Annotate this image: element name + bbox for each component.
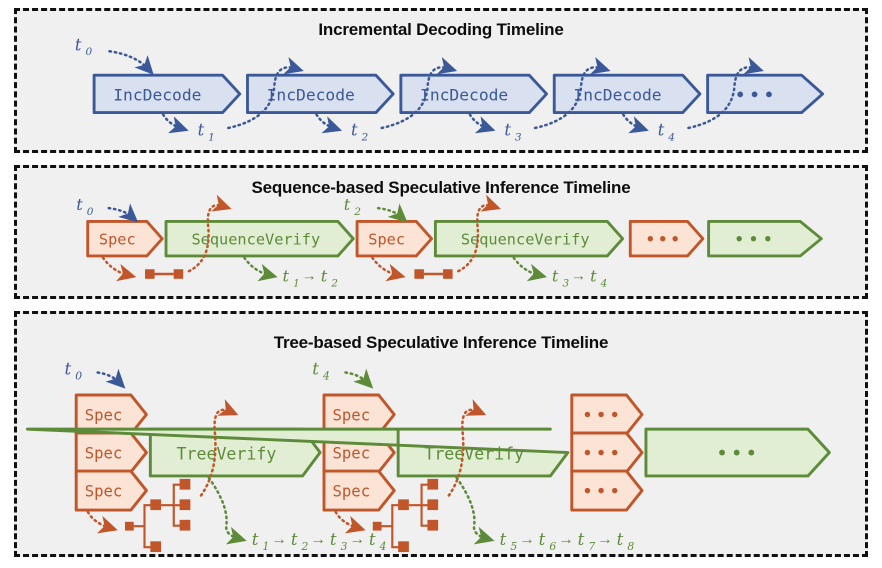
svg-text:→: →	[310, 531, 326, 548]
svg-text:2: 2	[361, 131, 369, 143]
incdecode-step-3-label: IncDecode	[420, 86, 508, 105]
svg-text:t: t	[539, 530, 546, 549]
panel-incremental-decoding: Incremental Decoding Timeline IncDecode	[14, 8, 868, 153]
svg-text:t: t	[75, 35, 82, 54]
label-t1: t 1	[198, 121, 215, 144]
svg-text:t: t	[198, 121, 205, 140]
panel-tree-speculative: Tree-based Speculative Inference Timelin…	[14, 311, 868, 557]
svg-text:2: 2	[353, 206, 361, 218]
svg-text:t: t	[369, 530, 376, 549]
sequenceverify-step-2: SequenceVerify	[435, 221, 622, 255]
arrow-treeverify2-out	[457, 478, 486, 538]
arrow-out-t4	[623, 115, 640, 128]
svg-text:4: 4	[667, 131, 675, 143]
arrow-out-t2	[317, 115, 334, 128]
svg-text:→: →	[571, 268, 586, 285]
svg-text:t: t	[351, 121, 358, 140]
arrow-spec2-tokens	[372, 258, 397, 275]
incdecode-step-ellipsis	[708, 75, 823, 112]
spec-stack-1: Spec Spec Spec	[76, 395, 146, 510]
svg-text:→: →	[349, 531, 365, 548]
svg-text:t: t	[312, 359, 319, 378]
svg-text:t: t	[617, 530, 624, 549]
label-t1-t2: t 1 → t 2	[283, 267, 339, 290]
arrow-t4-in-tree	[345, 373, 366, 383]
svg-text:3: 3	[515, 131, 522, 143]
incdecode-step-4-label: IncDecode	[573, 86, 661, 105]
arrow-out-t3	[470, 115, 487, 128]
svg-text:0: 0	[85, 46, 92, 58]
svg-text:0: 0	[87, 206, 94, 218]
svg-text:1: 1	[263, 540, 270, 553]
arrow-spec2-tree-tokens	[336, 512, 357, 528]
figure-canvas: Incremental Decoding Timeline IncDecode	[0, 0, 882, 568]
label-t1-t4-chain: t 1 → t 2 → t 3 → t 4	[252, 530, 387, 553]
incremental-decoding-diagram: IncDecode IncDecode IncDecode IncDecode	[17, 11, 871, 150]
label-t2: t 2	[351, 121, 369, 144]
svg-text:t: t	[330, 530, 337, 549]
svg-text:4: 4	[600, 277, 608, 289]
spec-step-ellipsis	[630, 221, 703, 255]
incdecode-step-2: IncDecode	[247, 75, 393, 112]
sequenceverify-step-ellipsis	[709, 221, 822, 255]
label-t0-seq: t 0	[76, 195, 94, 218]
arrow-verify1-out	[244, 258, 269, 275]
svg-text:3: 3	[341, 540, 348, 553]
sequenceverify-step-1: SequenceVerify	[166, 221, 353, 255]
svg-text:t: t	[291, 530, 298, 549]
label-t3: t 3	[504, 121, 522, 144]
svg-text:t: t	[344, 195, 351, 214]
incdecode-step-2-label: IncDecode	[267, 86, 355, 105]
svg-text:t: t	[76, 195, 83, 214]
svg-text:→: →	[519, 531, 535, 548]
svg-text:→: →	[302, 268, 317, 285]
incdecode-step-3: IncDecode	[401, 75, 547, 112]
spec-step-2-label: Spec	[368, 230, 405, 248]
svg-text:1: 1	[293, 277, 300, 289]
sequenceverify-step-1-label: SequenceVerify	[191, 230, 320, 248]
svg-text:t: t	[552, 267, 559, 286]
svg-text:t: t	[658, 121, 665, 140]
svg-text:t: t	[504, 121, 511, 140]
sequence-speculative-diagram: Spec SequenceVerify Spec SequenceVerify	[17, 168, 871, 296]
arrow-spec1-tree-tokens	[88, 512, 109, 528]
svg-text:t: t	[578, 530, 585, 549]
label-t5-t8-chain: t 5 → t 6 → t 7 → t 8	[500, 530, 635, 553]
svg-text:2: 2	[330, 277, 338, 289]
svg-text:→: →	[558, 531, 574, 548]
svg-text:5: 5	[510, 540, 517, 553]
arrow-verify2-out	[514, 258, 539, 275]
arrow-t2-in-seq	[378, 208, 401, 217]
label-t0: t 0	[75, 35, 93, 58]
incdecode-step-4: IncDecode	[554, 75, 700, 112]
spec-stack-1-item-3-label: Spec	[85, 482, 123, 500]
svg-text:2: 2	[301, 540, 309, 553]
svg-text:6: 6	[549, 540, 556, 553]
spec-stack-2-item-2-label: Spec	[333, 444, 371, 462]
spec-stack-1-item-2-label: Spec	[85, 444, 123, 462]
label-t4-tree: t 4	[312, 359, 330, 382]
svg-text:4: 4	[379, 540, 387, 553]
spec-stack-2: Spec Spec Spec	[324, 395, 394, 510]
arrow-out-t1	[163, 115, 180, 128]
svg-text:t: t	[283, 267, 290, 286]
spec-step-2: Spec	[357, 221, 432, 255]
treeverify-step-ellipsis	[646, 429, 829, 476]
incdecode-step-1: IncDecode	[94, 75, 240, 112]
svg-text:→: →	[271, 531, 287, 548]
treeverify-step-2-label: TreeVerify	[424, 444, 524, 463]
spec-step-1-label: Spec	[99, 230, 136, 248]
svg-text:→: →	[597, 531, 613, 548]
svg-text:3: 3	[562, 277, 569, 289]
token-sequence-1	[145, 269, 183, 279]
tree-speculative-diagram: Spec Spec Spec TreeVerify Spec Spec Spec	[17, 314, 871, 554]
arrow-t0-in	[109, 51, 147, 68]
token-sequence-2	[414, 269, 452, 279]
svg-text:0: 0	[75, 369, 82, 382]
arrow-spec1-tokens	[103, 258, 128, 275]
spec-stack-ellipsis	[572, 395, 642, 510]
svg-text:t: t	[500, 530, 507, 549]
svg-text:t: t	[590, 267, 597, 286]
panel-sequence-speculative: Sequence-based Speculative Inference Tim…	[14, 165, 868, 299]
svg-text:t: t	[321, 267, 328, 286]
svg-text:4: 4	[322, 369, 330, 382]
sequenceverify-step-2-label: SequenceVerify	[461, 230, 590, 248]
label-t0-tree: t 0	[64, 359, 82, 382]
svg-text:7: 7	[588, 540, 595, 553]
svg-text:8: 8	[627, 540, 634, 553]
label-t3-t4: t 3 → t 4	[552, 267, 607, 290]
arrow-t0-in-tree	[98, 373, 119, 383]
arrow-t0-in-seq	[109, 208, 132, 217]
treeverify-step-1-label: TreeVerify	[177, 444, 277, 463]
spec-stack-2-item-1-label: Spec	[333, 406, 371, 424]
incdecode-step-1-label: IncDecode	[113, 86, 201, 105]
label-t2-seq: t 2	[344, 195, 362, 218]
spec-stack-2-item-3-label: Spec	[333, 482, 371, 500]
spec-step-1: Spec	[88, 221, 163, 255]
svg-text:t: t	[64, 359, 71, 378]
arrow-treeverify1-out	[209, 478, 238, 538]
spec-stack-1-item-1-label: Spec	[85, 406, 123, 424]
label-t4: t 4	[658, 121, 675, 144]
svg-text:t: t	[252, 530, 259, 549]
svg-text:1: 1	[208, 131, 215, 143]
